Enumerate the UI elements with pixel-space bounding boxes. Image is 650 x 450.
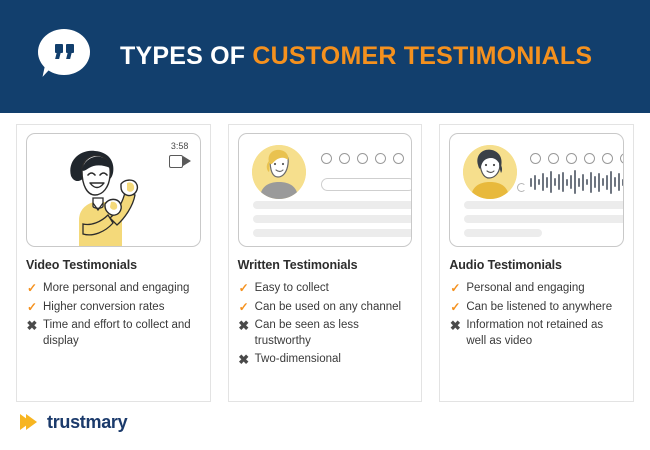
list-item-label: Can be used on any channel [255, 300, 413, 316]
camera-body [169, 155, 183, 168]
list-item: ✓ Easy to collect [238, 281, 413, 297]
card-row: 3:58 [16, 124, 634, 402]
card-audio-testimonials[interactable]: Audio Testimonials ✓ Personal and engagi… [439, 124, 634, 402]
bullet-list: ✓ Personal and engaging ✓ Can be listene… [449, 281, 624, 349]
written-review-card-illustration [238, 133, 413, 247]
camera-lens [183, 156, 191, 166]
bullet-list: ✓ More personal and engaging ✓ Higher co… [26, 281, 201, 349]
person-waving-illustration [55, 146, 151, 246]
page-title-accent: CUSTOMER TESTIMONIALS [252, 42, 592, 70]
header-banner: TYPES OF CUSTOMER TESTIMONIALS [0, 0, 650, 113]
list-item: ✓ Can be used on any channel [238, 300, 413, 316]
check-icon: ✓ [449, 300, 461, 316]
video-meta: 3:58 [169, 141, 191, 168]
card-title: Audio Testimonials [449, 258, 624, 272]
speech-bubble-quote-icon [38, 29, 94, 85]
list-item: ✓ Can be listened to anywhere [449, 300, 624, 316]
star-outline-icon [411, 153, 413, 164]
star-outline-icon [321, 153, 332, 164]
text-placeholder-line [253, 229, 413, 237]
card-written-testimonials[interactable]: Written Testimonials ✓ Easy to collect ✓… [228, 124, 423, 402]
check-icon: ✓ [238, 300, 250, 316]
list-item: ✖ Can be seen as less trustworthy [238, 318, 413, 349]
list-item-label: Can be seen as less trustworthy [255, 318, 413, 349]
star-outline-icon [339, 153, 350, 164]
quote-marks [38, 29, 90, 75]
audio-waveform-icon [530, 169, 624, 195]
text-placeholder-line [464, 215, 624, 223]
text-placeholder-line [464, 229, 542, 237]
cross-icon: ✖ [238, 352, 250, 368]
video-player-illustration: 3:58 [26, 133, 201, 247]
check-icon: ✓ [26, 281, 38, 297]
text-placeholder-line [253, 201, 413, 209]
trustmary-wordmark: trustmary [47, 412, 127, 433]
list-item: ✓ Personal and engaging [449, 281, 624, 297]
star-outline-icon [548, 153, 559, 164]
text-placeholder-line [464, 201, 624, 209]
list-item-label: Easy to collect [255, 281, 413, 297]
star-outline-icon [602, 153, 613, 164]
star-outline-icon [620, 153, 624, 164]
quote-glyph-right [66, 44, 74, 59]
list-item: ✓ More personal and engaging [26, 281, 201, 297]
list-item: ✖ Two-dimensional [238, 352, 413, 368]
check-icon: ✓ [26, 300, 38, 316]
audio-arc-icon [517, 183, 526, 192]
card-title: Written Testimonials [238, 258, 413, 272]
page-title: TYPES OF CUSTOMER TESTIMONIALS [120, 42, 592, 71]
list-item-label: Two-dimensional [255, 352, 413, 368]
video-camera-icon [169, 155, 191, 168]
page-title-plain: TYPES OF [120, 42, 252, 70]
video-timestamp: 3:58 [169, 141, 191, 152]
check-icon: ✓ [238, 281, 250, 297]
cross-icon: ✖ [449, 318, 461, 334]
cross-icon: ✖ [26, 318, 38, 334]
star-outline-icon [375, 153, 386, 164]
star-outline-icon [393, 153, 404, 164]
star-outline-icon [530, 153, 541, 164]
text-placeholder-line [253, 215, 413, 223]
list-item: ✓ Higher conversion rates [26, 300, 201, 316]
check-icon: ✓ [449, 281, 461, 297]
quote-glyph-left [55, 44, 63, 59]
star-outline-icon [584, 153, 595, 164]
avatar-blonde-icon [252, 145, 306, 199]
card-video-testimonials[interactable]: 3:58 [16, 124, 211, 402]
trustmary-chevron-icon [18, 411, 40, 433]
list-item-label: Information not retained as well as vide… [466, 318, 624, 349]
bullet-list: ✓ Easy to collect ✓ Can be used on any c… [238, 281, 413, 368]
list-item-label: Personal and engaging [466, 281, 624, 297]
cross-icon: ✖ [238, 318, 250, 334]
list-item-label: More personal and engaging [43, 281, 201, 297]
card-title: Video Testimonials [26, 258, 201, 272]
rating-placeholder [321, 153, 413, 164]
infographic-page: TYPES OF CUSTOMER TESTIMONIALS 3:58 [0, 0, 650, 450]
list-item-label: Can be listened to anywhere [466, 300, 624, 316]
avatar-darkhair-icon [463, 145, 517, 199]
star-outline-icon [357, 153, 368, 164]
list-item-label: Higher conversion rates [43, 300, 201, 316]
footer-logo[interactable]: trustmary [18, 411, 127, 433]
list-item: ✖ Time and effort to collect and display [26, 318, 201, 349]
list-item: ✖ Information not retained as well as vi… [449, 318, 624, 349]
audio-review-card-illustration [449, 133, 624, 247]
star-outline-icon [566, 153, 577, 164]
list-item-label: Time and effort to collect and display [43, 318, 201, 349]
rating-placeholder [530, 153, 624, 164]
name-placeholder-pill [321, 178, 413, 191]
